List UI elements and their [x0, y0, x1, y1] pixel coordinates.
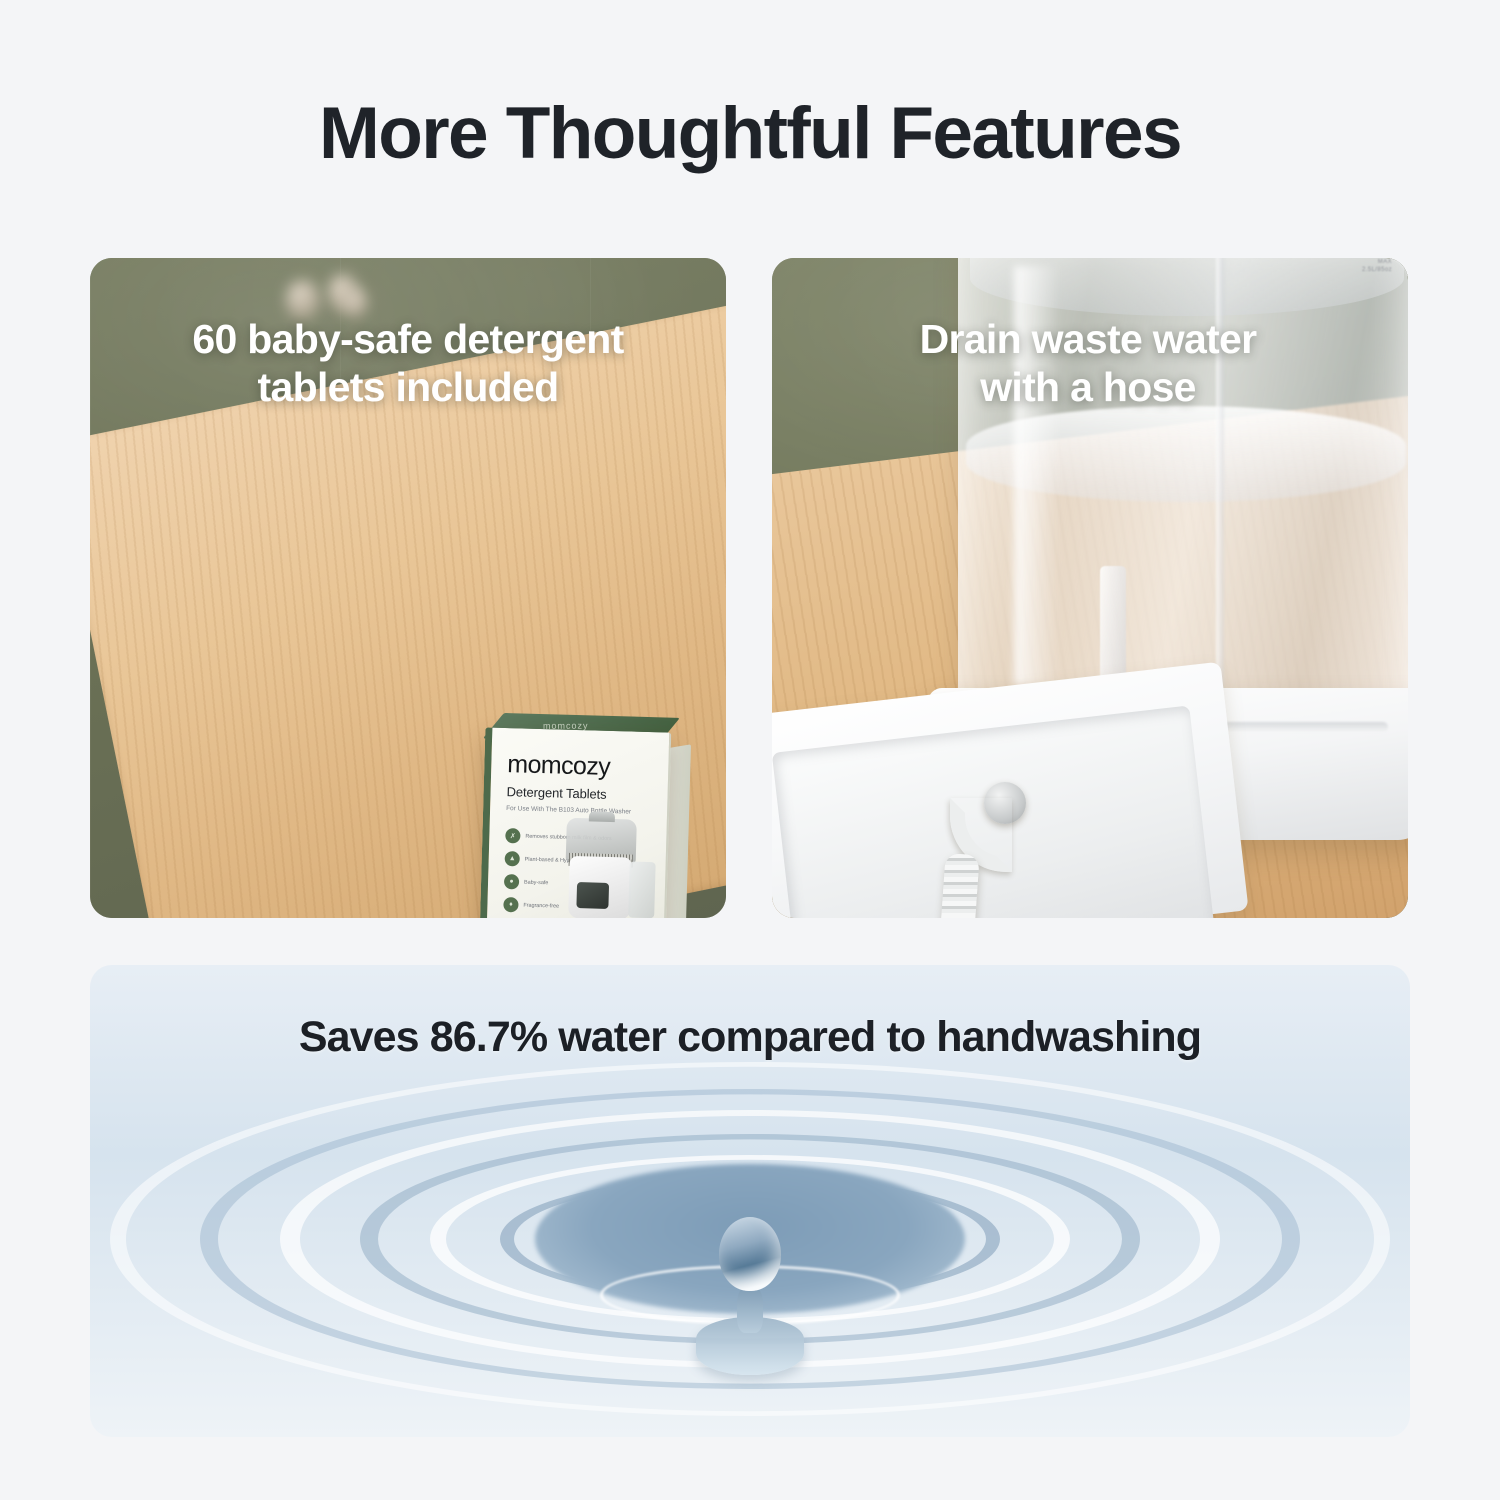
no-residue-icon: ✗	[505, 828, 520, 843]
feature-card-detergent-tablets[interactable]: momcozy momcozy Detergent Tablets For Us…	[90, 258, 726, 918]
fragrance-free-icon: ♦	[503, 897, 518, 912]
washer-display-screen	[576, 882, 609, 909]
feature-card-drain-hose[interactable]: MAX 2.5L/85oz Drain waste water with a h…	[772, 258, 1408, 918]
box-front-panel: momcozy Detergent Tablets For Use With T…	[479, 727, 672, 918]
card-caption-detergent: 60 baby-safe detergent tablets included	[90, 316, 726, 411]
tank-capacity-marking: MAX 2.5L/85oz	[1350, 258, 1392, 284]
box-brand-label: momcozy	[507, 750, 657, 783]
card-caption-drain-hose: Drain waste water with a hose	[828, 316, 1348, 411]
page-title: More Thoughtful Features	[0, 96, 1500, 173]
box-feature-label: Baby-safe	[524, 878, 548, 887]
card-caption-water-savings: Saves 86.7% water compared to handwashin…	[90, 1013, 1410, 1062]
detergent-box[interactable]: momcozy momcozy Detergent Tablets For Us…	[479, 727, 672, 918]
caption-line-2: tablets included	[116, 364, 700, 412]
water-droplet	[719, 1217, 781, 1291]
box-product-name: Detergent Tablets	[506, 784, 655, 803]
cabinet-knob-icon	[342, 288, 368, 318]
cabinet-knob-icon	[286, 280, 320, 320]
caption-line-2: with a hose	[854, 364, 1322, 412]
caption-line-1: Drain waste water	[854, 316, 1322, 364]
leaf-icon: ▲	[505, 851, 520, 866]
feature-card-water-savings[interactable]: Saves 86.7% water compared to handwashin…	[90, 965, 1410, 1437]
baby-safe-icon: ●	[504, 874, 519, 889]
box-feature-label: Fragrance-free	[523, 901, 559, 910]
water-droplet-neck	[737, 1285, 763, 1333]
washer-water-tank	[628, 862, 656, 918]
caption-line-1: 60 baby-safe detergent	[116, 316, 700, 364]
bottle-washer-illustration	[562, 810, 657, 918]
